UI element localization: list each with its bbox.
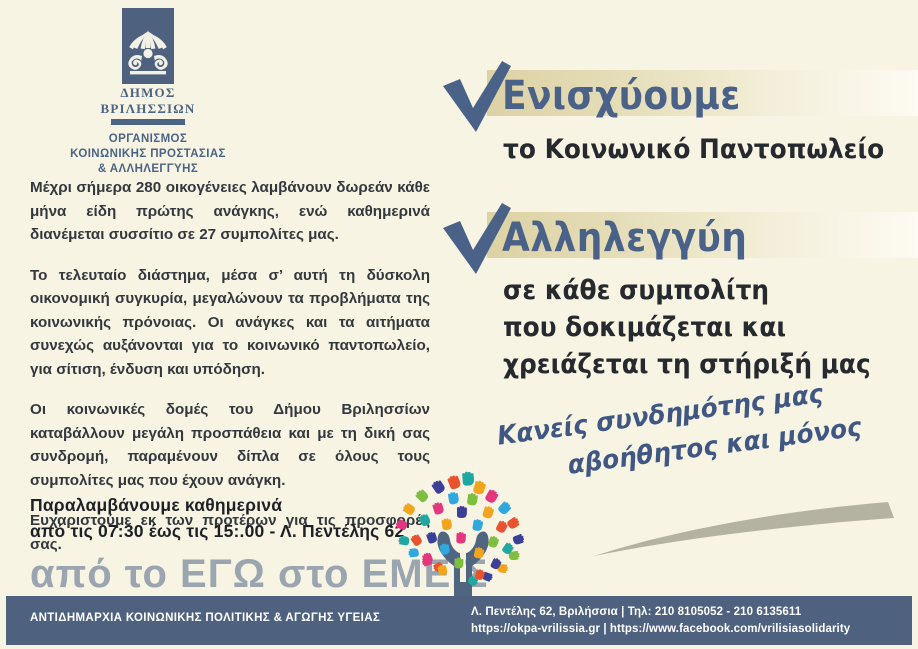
logo-name-line1: ΔΗΜΟΣ — [28, 86, 268, 100]
paragraph-1: Μέχρι σήμερα 280 οικογένειες λαμβάνουν δ… — [30, 176, 430, 247]
swoosh-curve-shape — [592, 498, 902, 560]
logo-sub-line1: ΟΡΓΑΝΙΣΜΟΣ — [28, 132, 268, 147]
italic-slogan: Κανείς συνδημότης μας αβοήθητος και μόνο… — [495, 366, 903, 507]
logo-name-line2: ΒΡΙΛΗΣΣΙΩΝ — [28, 102, 268, 116]
logo-divider — [111, 119, 185, 125]
headline-2-sub: σε κάθε συμπολίτη που δοκιμάζεται και χρ… — [503, 272, 871, 383]
headline-2-sub-line-2: που δοκιμάζεται και — [503, 309, 871, 346]
footer-links[interactable]: https://okpa-vrilissia.gr | https://www.… — [471, 621, 850, 638]
headline-2-main: Αλληλεγγύη — [502, 215, 747, 261]
headline-2-sub-line-1: σε κάθε συμπολίτη — [503, 272, 871, 309]
headline-1-main: Ενισχύουμε — [502, 73, 741, 119]
logo-sub-line2: ΚΟΙΝΩΝΙΚΗΣ ΠΡΟΣΤΑΣΙΑΣ — [28, 147, 268, 162]
footer-address-phone: Λ. Πεντέλης 62, Βριλήσσια | Τηλ: 210 810… — [471, 604, 850, 621]
paragraph-2: Το τελευταίο διάστημα, μέσα σ’ αυτή τη δ… — [30, 264, 430, 382]
footer-bar: ΑΝΤΙΔΗΜΑΡΧΙΑ ΚΟΙΝΩΝΙΚΗΣ ΠΟΛΙΤΙΚΗΣ & ΑΓΩΓ… — [6, 596, 912, 645]
footer-contact: Λ. Πεντέλης 62, Βριλήσσια | Τηλ: 210 810… — [471, 604, 850, 638]
logo-sub-line3: & ΑΛΛΗΛΕΓΓΥΗΣ — [28, 162, 268, 177]
municipality-logo: ΔΗΜΟΣ ΒΡΙΛΗΣΣΙΩΝ ΟΡΓΑΝΙΣΜΟΣ ΚΟΙΝΩΝΙΚΗΣ Π… — [28, 8, 268, 177]
footer-department: ΑΝΤΙΔΗΜΑΡΧΙΑ ΚΟΙΝΩΝΙΚΗΣ ΠΟΛΙΤΙΚΗΣ & ΑΓΩΓ… — [30, 612, 380, 624]
poster-canvas: ΔΗΜΟΣ ΒΡΙΛΗΣΣΙΩΝ ΟΡΓΑΝΙΣΜΟΣ ΚΟΙΝΩΝΙΚΗΣ Π… — [0, 0, 918, 649]
headline-1-sub: το Κοινωνικό Παντοπωλείο — [503, 131, 884, 168]
paragraph-3: Οι κοινωνικές δομές του Δήμου Βριλησσίων… — [30, 398, 430, 492]
hands-tree-illustration — [378, 462, 548, 610]
anthemion-palmette-icon — [122, 8, 174, 84]
